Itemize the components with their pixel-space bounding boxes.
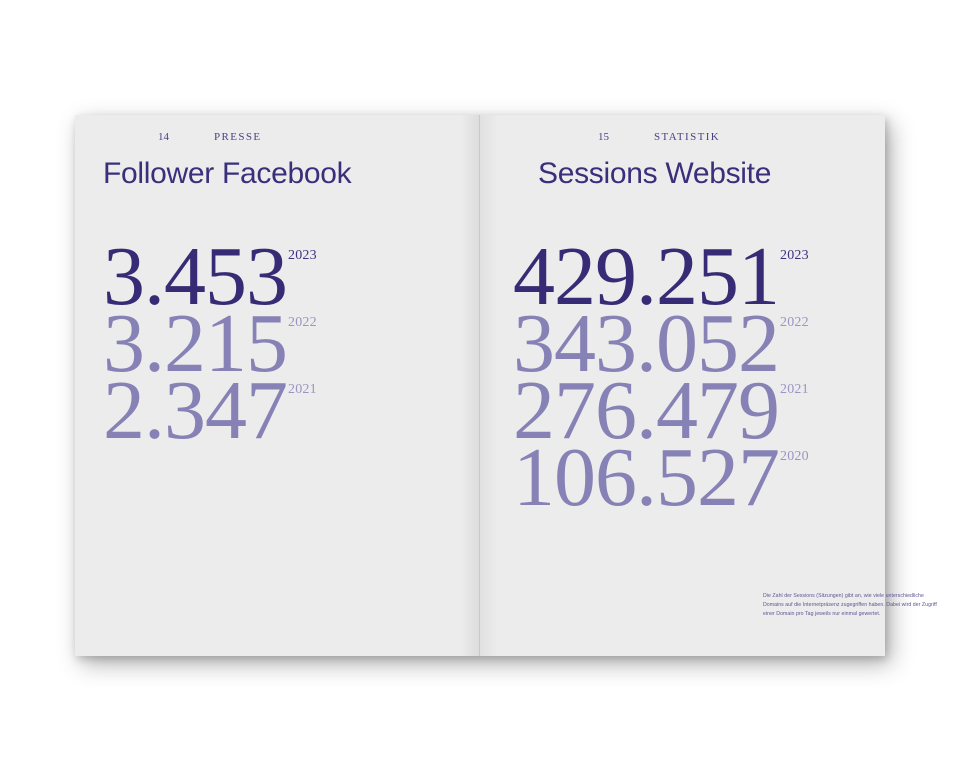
figure-year: 2023 bbox=[780, 249, 809, 263]
figure-value: 2.347 bbox=[103, 377, 287, 444]
figure-year: 2022 bbox=[780, 316, 809, 330]
magazine-spread: 14PRESSE Follower Facebook 3.453 2023 3.… bbox=[75, 115, 885, 656]
figure-value: 106.527 bbox=[513, 444, 779, 511]
figure-year: 2020 bbox=[780, 450, 809, 464]
right-page: 15STATISTIK Sessions Website 429.251 202… bbox=[480, 115, 885, 656]
figure-year: 2023 bbox=[288, 249, 317, 263]
figure-row: 106.527 2020 bbox=[513, 444, 809, 511]
figure-year: 2021 bbox=[288, 383, 317, 397]
left-page: 14PRESSE Follower Facebook 3.453 2023 3.… bbox=[75, 115, 479, 656]
right-figure-stack: 429.251 2023 343.052 2022 276.479 2021 1… bbox=[480, 115, 885, 656]
figure-row: 2.347 2021 bbox=[103, 377, 317, 444]
sessions-footnote: Die Zahl der Sessions (Sitzungen) gibt a… bbox=[763, 592, 943, 619]
figure-year: 2022 bbox=[288, 316, 317, 330]
screenshot-canvas: 14PRESSE Follower Facebook 3.453 2023 3.… bbox=[0, 0, 960, 768]
left-figure-stack: 3.453 2023 3.215 2022 2.347 2021 bbox=[75, 115, 479, 656]
figure-year: 2021 bbox=[780, 383, 809, 397]
